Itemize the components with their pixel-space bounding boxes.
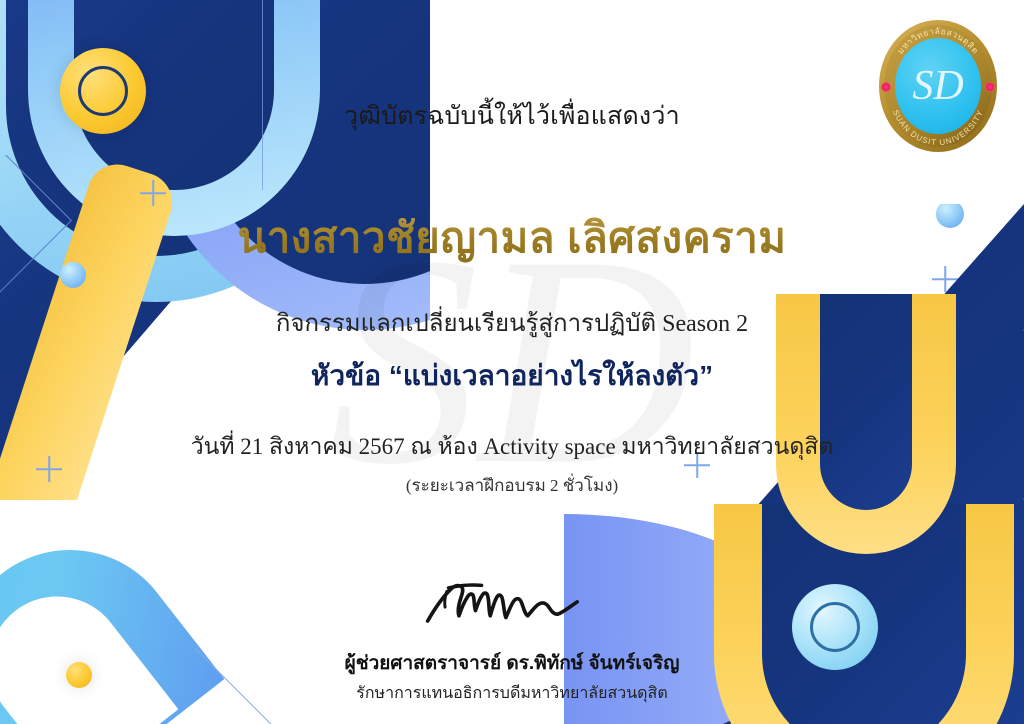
signature-block <box>0 570 1024 632</box>
date-venue-line: วันที่ 21 สิงหาคม 2567 ณ ห้อง Activity s… <box>0 429 1024 465</box>
signer-name: ผู้ช่วยศาสตราจารย์ ดร.พิทักษ์ จันทร์เจริ… <box>0 648 1024 678</box>
topic-line: หัวข้อ “แบ่งเวลาอย่างไรให้ลงตัว” <box>0 354 1024 398</box>
recipient-name: นางสาวชัยญามล เลิศสงคราม <box>0 205 1024 271</box>
duration-line: (ระยะเวลาฝึกอบรม 2 ชั่วโมง) <box>0 472 1024 499</box>
activity-line: กิจกรรมแลกเปลี่ยนเรียนรู้สู่การปฏิบัติ S… <box>0 303 1024 342</box>
certificate-page: SD มหาวิทยาลัยสวนดุสิต SUAN DUSIT UNIVER… <box>0 0 1024 724</box>
signer-role: รักษาการแทนอธิการบดีมหาวิทยาลัยสวนดุสิต <box>0 681 1024 706</box>
certificate-content: วุฒิบัตรฉบับนี้ให้ไว้เพื่อแสดงว่า นางสาว… <box>0 0 1024 724</box>
handwritten-signature-icon <box>412 570 612 632</box>
intro-text: วุฒิบัตรฉบับนี้ให้ไว้เพื่อแสดงว่า <box>0 96 1024 136</box>
